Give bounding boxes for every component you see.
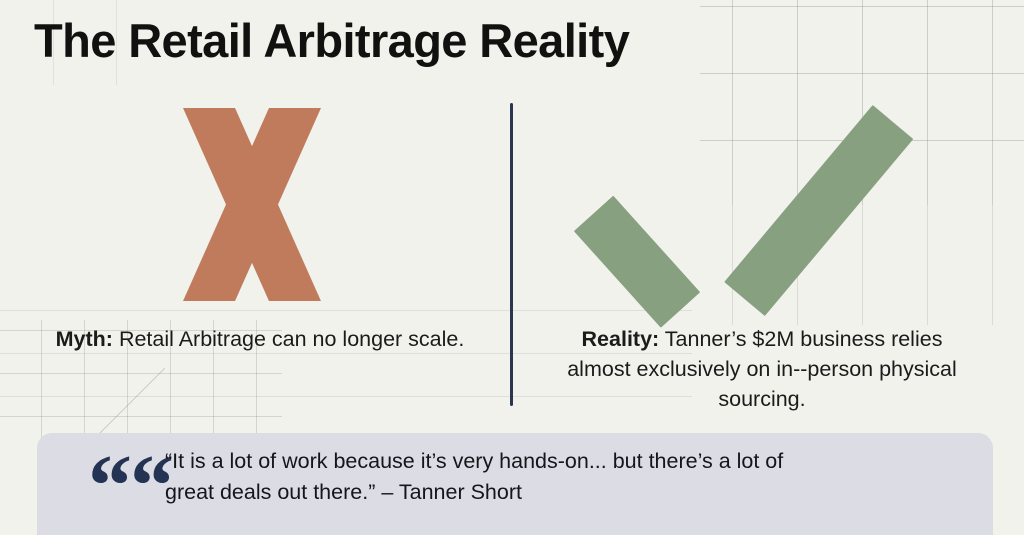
check-mark-stroke-long <box>724 105 913 316</box>
myth-label: Myth: <box>56 327 113 351</box>
check-mark-stroke-short <box>574 196 700 328</box>
quote-text: “It is a lot of work because it’s very h… <box>165 446 975 508</box>
check-mark-icon <box>640 100 890 310</box>
x-mark-icon <box>153 108 351 301</box>
quote-mark-icon: ““ <box>88 443 172 531</box>
slide-canvas: The Retail Arbitrage Reality Myth: Retai… <box>0 0 1024 535</box>
quote-line-2: great deals out there.” – Tanner Short <box>165 477 975 508</box>
myth-body: Retail Arbitrage can no longer scale. <box>113 327 464 351</box>
column-divider <box>510 103 513 406</box>
grid-diagonal-line <box>95 368 165 438</box>
quote-line-1: “It is a lot of work because it’s very h… <box>165 446 975 477</box>
reality-statement: Reality: Tanner’s $2M business relies al… <box>552 324 972 414</box>
page-title: The Retail Arbitrage Reality <box>34 13 629 68</box>
myth-statement: Myth: Retail Arbitrage can no longer sca… <box>50 324 470 354</box>
reality-label: Reality: <box>582 327 660 351</box>
